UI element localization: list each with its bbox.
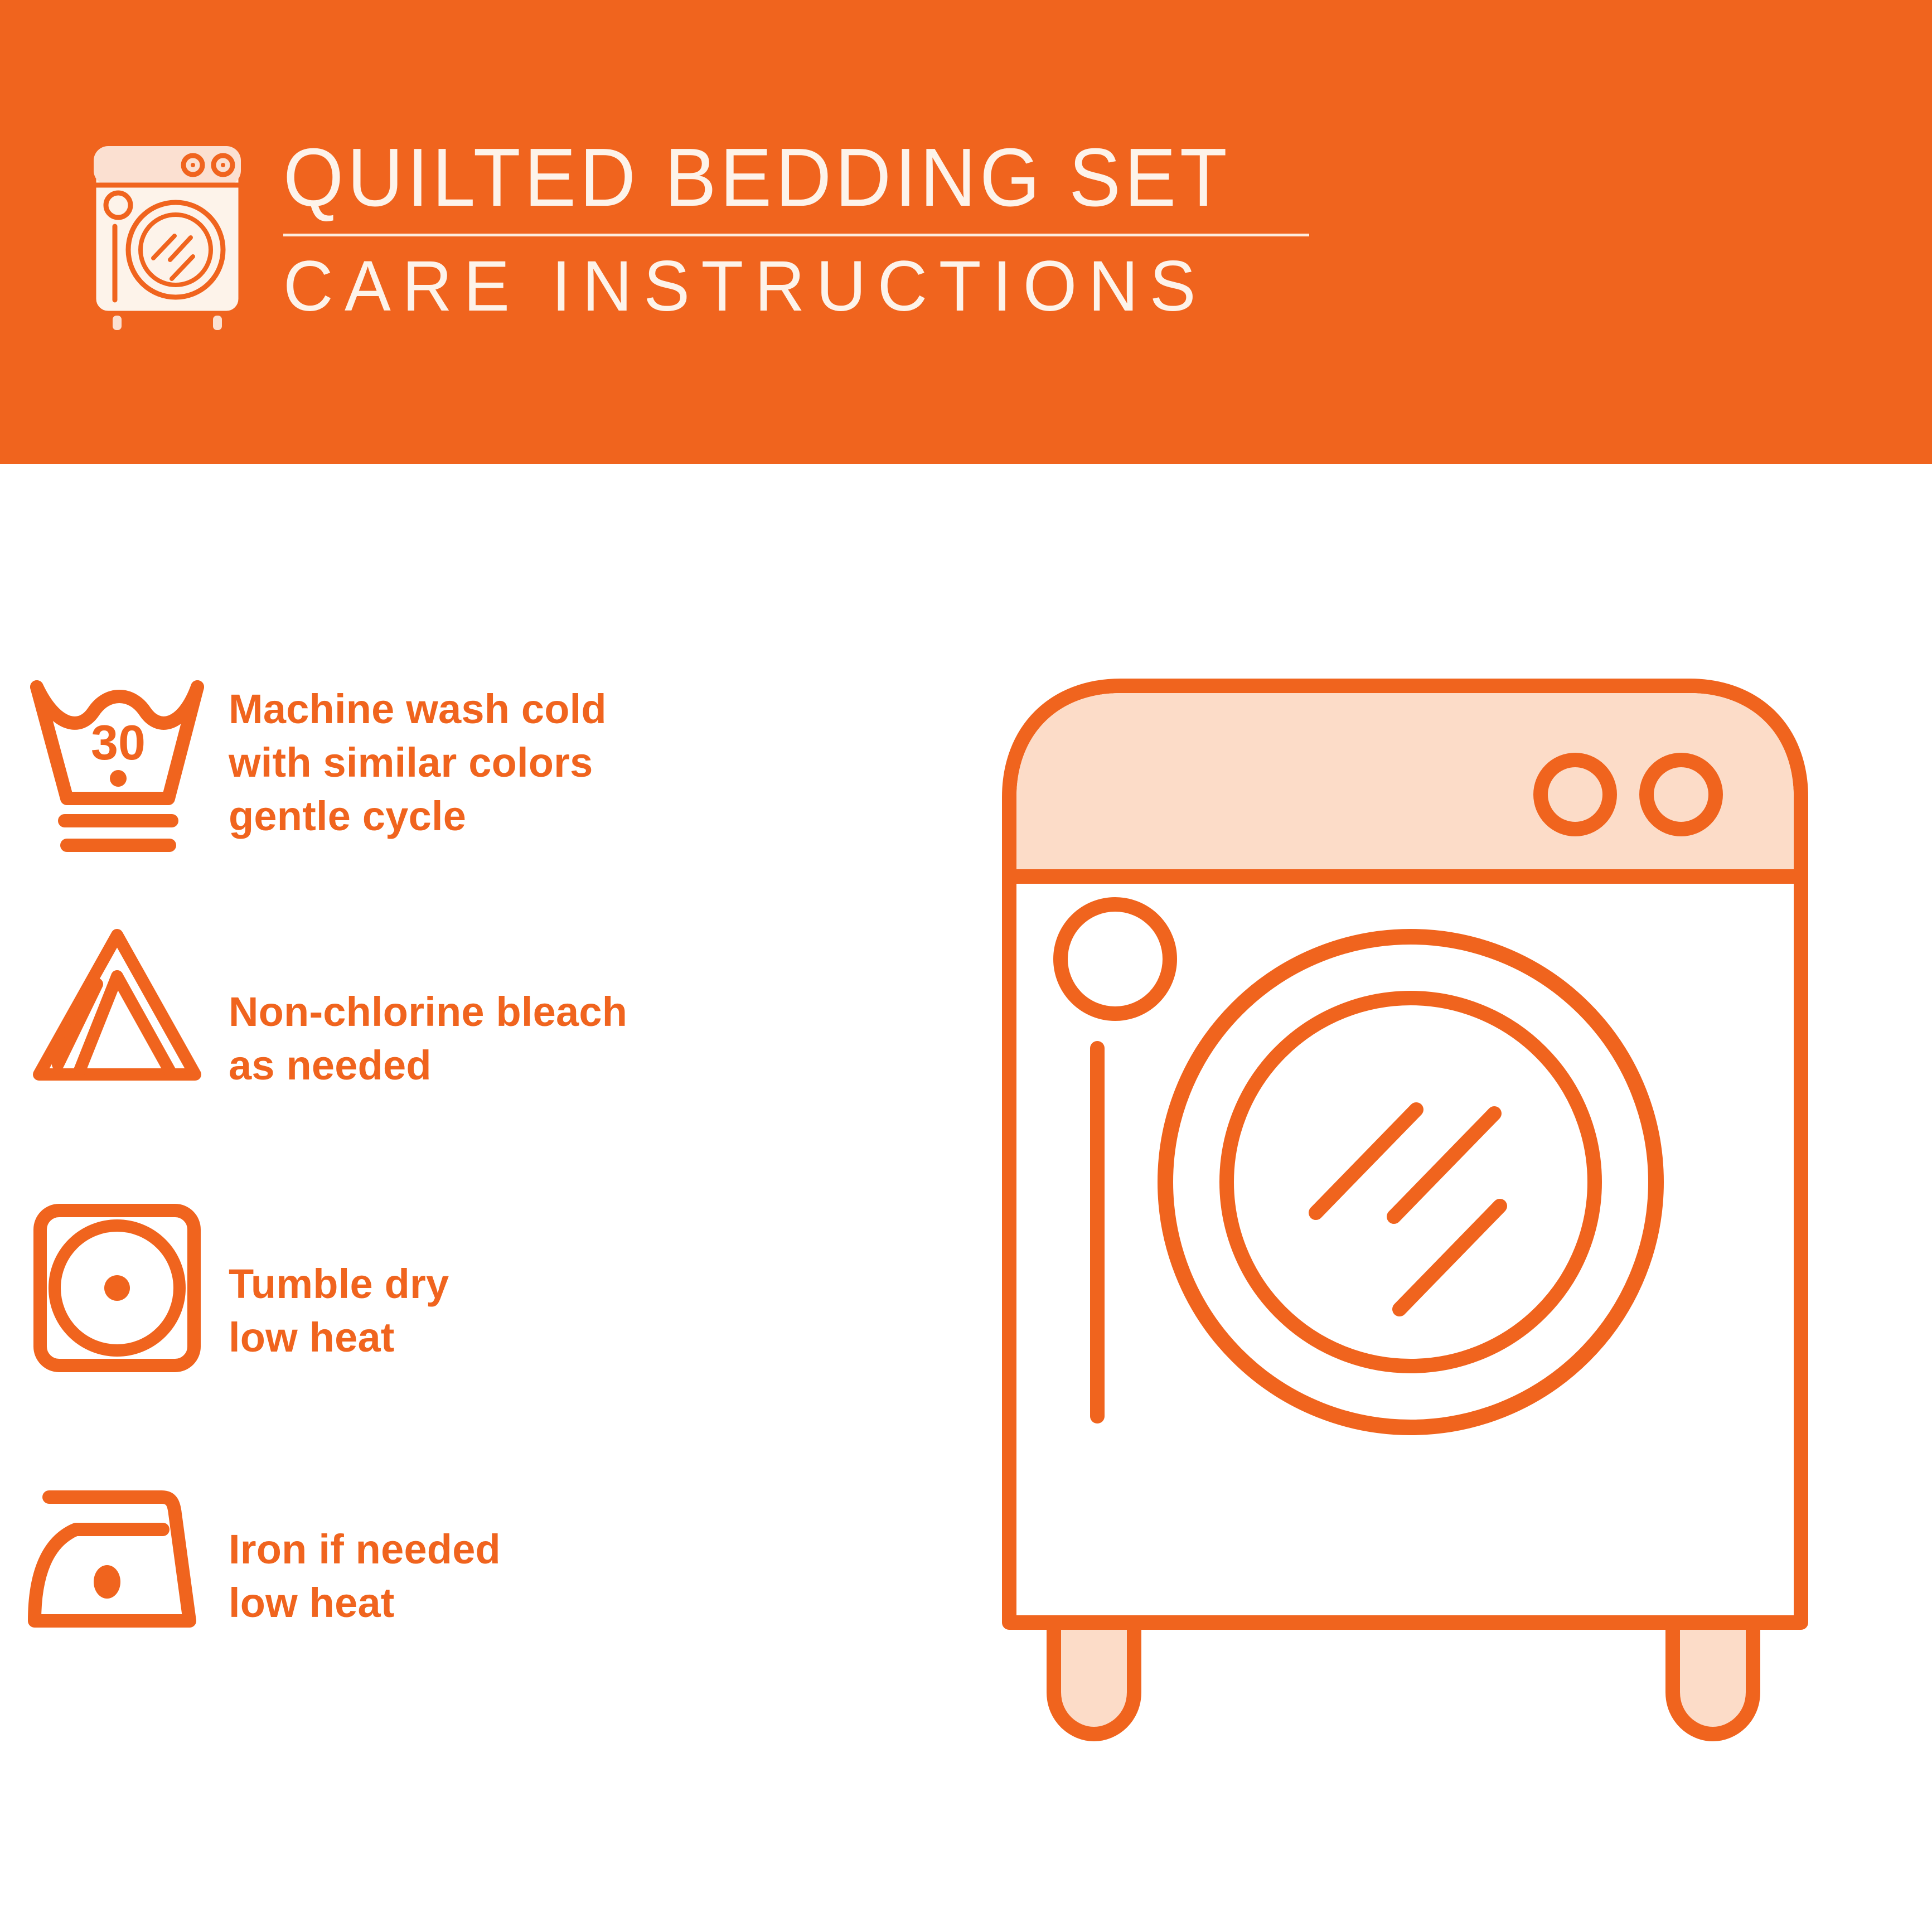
care-line: as needed	[229, 1039, 948, 1092]
iron-icon	[0, 1475, 223, 1642]
care-text-machine-wash: Machine wash cold with similar colors ge…	[223, 675, 948, 844]
care-text-bleach: Non-chlorine bleach as needed	[223, 923, 948, 1092]
care-instructions-page: QUILTED BEDDING SET CARE INSTRUCTIONS 30	[0, 0, 1932, 1932]
header-band: QUILTED BEDDING SET CARE INSTRUCTIONS	[0, 0, 1932, 464]
care-row-iron: Iron if needed low heat	[0, 1475, 948, 1642]
care-line: Non-chlorine bleach	[229, 985, 948, 1039]
care-row-machine-wash: 30 Machine wash cold with similar colors…	[0, 675, 948, 859]
bleach-triangle-icon	[0, 923, 223, 1090]
wash-tub-30-icon: 30	[0, 675, 223, 859]
tumble-dry-icon	[0, 1202, 223, 1374]
care-row-tumble-dry: Tumble dry low heat	[0, 1202, 948, 1374]
care-line: Machine wash cold	[229, 682, 948, 736]
care-line: Iron if needed	[229, 1523, 948, 1576]
care-row-bleach: Non-chlorine bleach as needed	[0, 923, 948, 1092]
care-text-iron: Iron if needed low heat	[223, 1475, 948, 1630]
page-title: QUILTED BEDDING SET	[283, 137, 1268, 219]
washing-machine-illustration	[948, 624, 1907, 1851]
header-text-block: QUILTED BEDDING SET CARE INSTRUCTIONS	[283, 137, 1331, 322]
care-line: gentle cycle	[229, 790, 948, 843]
care-text-tumble-dry: Tumble dry low heat	[223, 1202, 948, 1364]
care-line: low heat	[229, 1311, 948, 1364]
wash-temp-label: 30	[91, 715, 146, 770]
care-line: with similar colors	[229, 736, 948, 790]
care-line: low heat	[229, 1576, 948, 1630]
page-subtitle: CARE INSTRUCTIONS	[283, 251, 1300, 322]
title-divider	[283, 234, 1309, 236]
care-line: Tumble dry	[229, 1257, 948, 1311]
washing-machine-icon	[84, 138, 251, 333]
